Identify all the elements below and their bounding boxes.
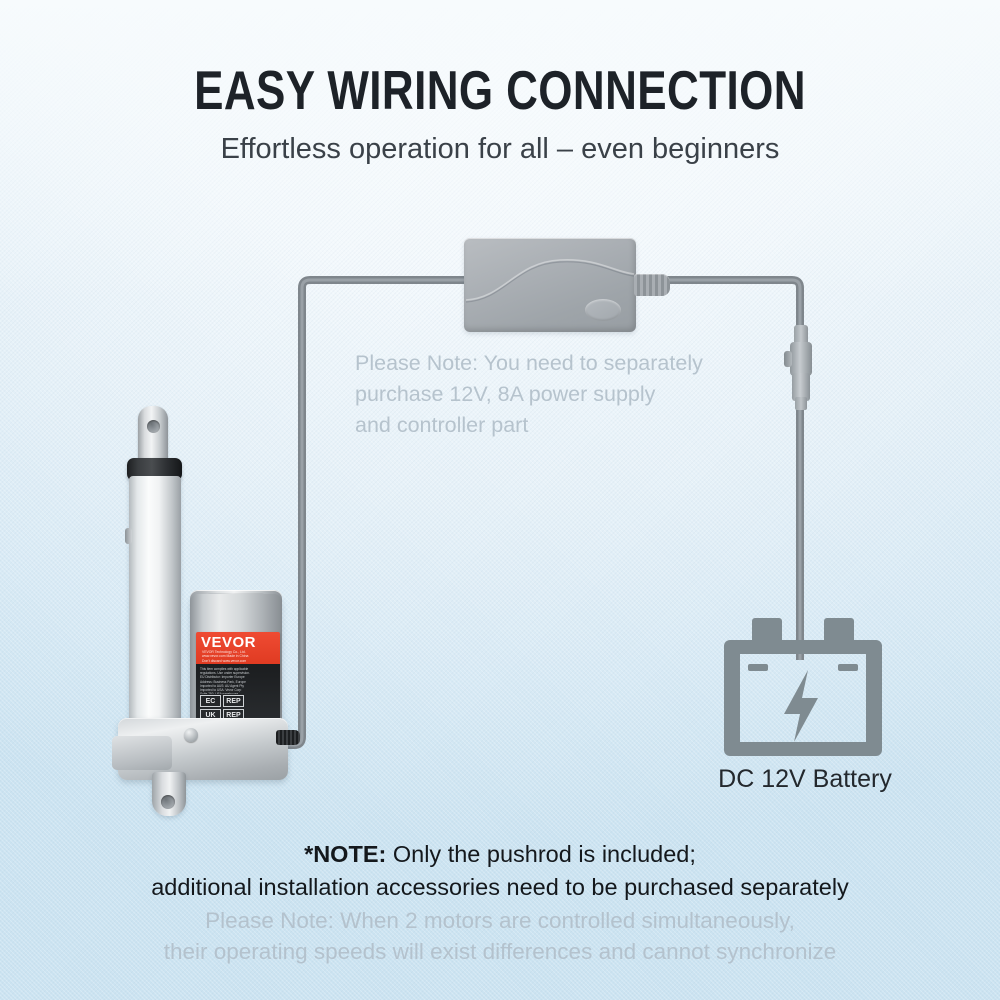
ec-box: EC — [200, 695, 221, 707]
page-title: EASY WIRING CONNECTION — [100, 58, 900, 122]
housing-screw — [184, 728, 198, 742]
label-brand-band: VEVOR VEVOR Technology Co., Ltd. www.vev… — [196, 632, 280, 664]
brand-name: VEVOR — [201, 634, 256, 651]
dc-barrel-connector — [788, 325, 814, 410]
page-title-highlight: EASY — [194, 59, 315, 121]
psu-logo-oval — [585, 299, 621, 321]
footer-note-line1: *NOTE: Only the pushrod is included; — [60, 838, 940, 871]
motor-product-label: VEVOR VEVOR Technology Co., Ltd. www.vev… — [196, 632, 280, 724]
actuator-outer-tube — [129, 476, 181, 741]
wiring-diagram-poster: EASY WIRING CONNECTION Effortless operat… — [0, 0, 1000, 1000]
footer-sub-note: Please Note: When 2 motors are controlle… — [40, 905, 960, 967]
footer-note: *NOTE: Only the pushrod is included; add… — [60, 838, 940, 904]
ec-rep-row: EC REP — [200, 695, 246, 707]
label-rep-marks: EC REP UK REP — [200, 693, 246, 721]
battery-icon — [722, 612, 884, 762]
page-subtitle: Effortless operation for all – even begi… — [0, 133, 1000, 166]
psu-cable-strain-relief — [634, 274, 670, 296]
footer-note-line1-rest: Only the pushrod is included; — [386, 841, 696, 867]
footer-note-line2: additional installation accessories need… — [60, 871, 940, 904]
housing-lower-step — [112, 736, 172, 770]
label-spec-block: This item complies with applicable regul… — [196, 664, 280, 724]
connector-segment-bottom — [795, 397, 807, 410]
motor-cable-strain-relief — [276, 730, 300, 745]
rod-mounting-hole — [147, 420, 160, 433]
page-title-rest: WIRING CONNECTION — [315, 59, 806, 121]
actuator-rear-mount — [152, 772, 186, 816]
linear-actuator-product: VEVOR VEVOR Technology Co., Ltd. www.vev… — [110, 400, 320, 820]
connector-latch-tab — [784, 351, 792, 367]
tube-side-clip — [125, 528, 132, 544]
rear-mount-hole — [161, 795, 175, 809]
connector-body-upper — [790, 342, 812, 376]
footer-note-bold: *NOTE: — [304, 841, 386, 867]
battery-label: DC 12V Battery — [650, 765, 960, 794]
ec-rep-box: REP — [223, 695, 244, 707]
center-note-text: Please Note: You need to separately purc… — [355, 348, 785, 441]
power-supply-brick — [464, 238, 636, 332]
label-fine-print-dark: This item complies with applicable regul… — [200, 667, 276, 694]
label-fine-print-red: VEVOR Technology Co., Ltd. www.vevor.com… — [202, 650, 278, 663]
